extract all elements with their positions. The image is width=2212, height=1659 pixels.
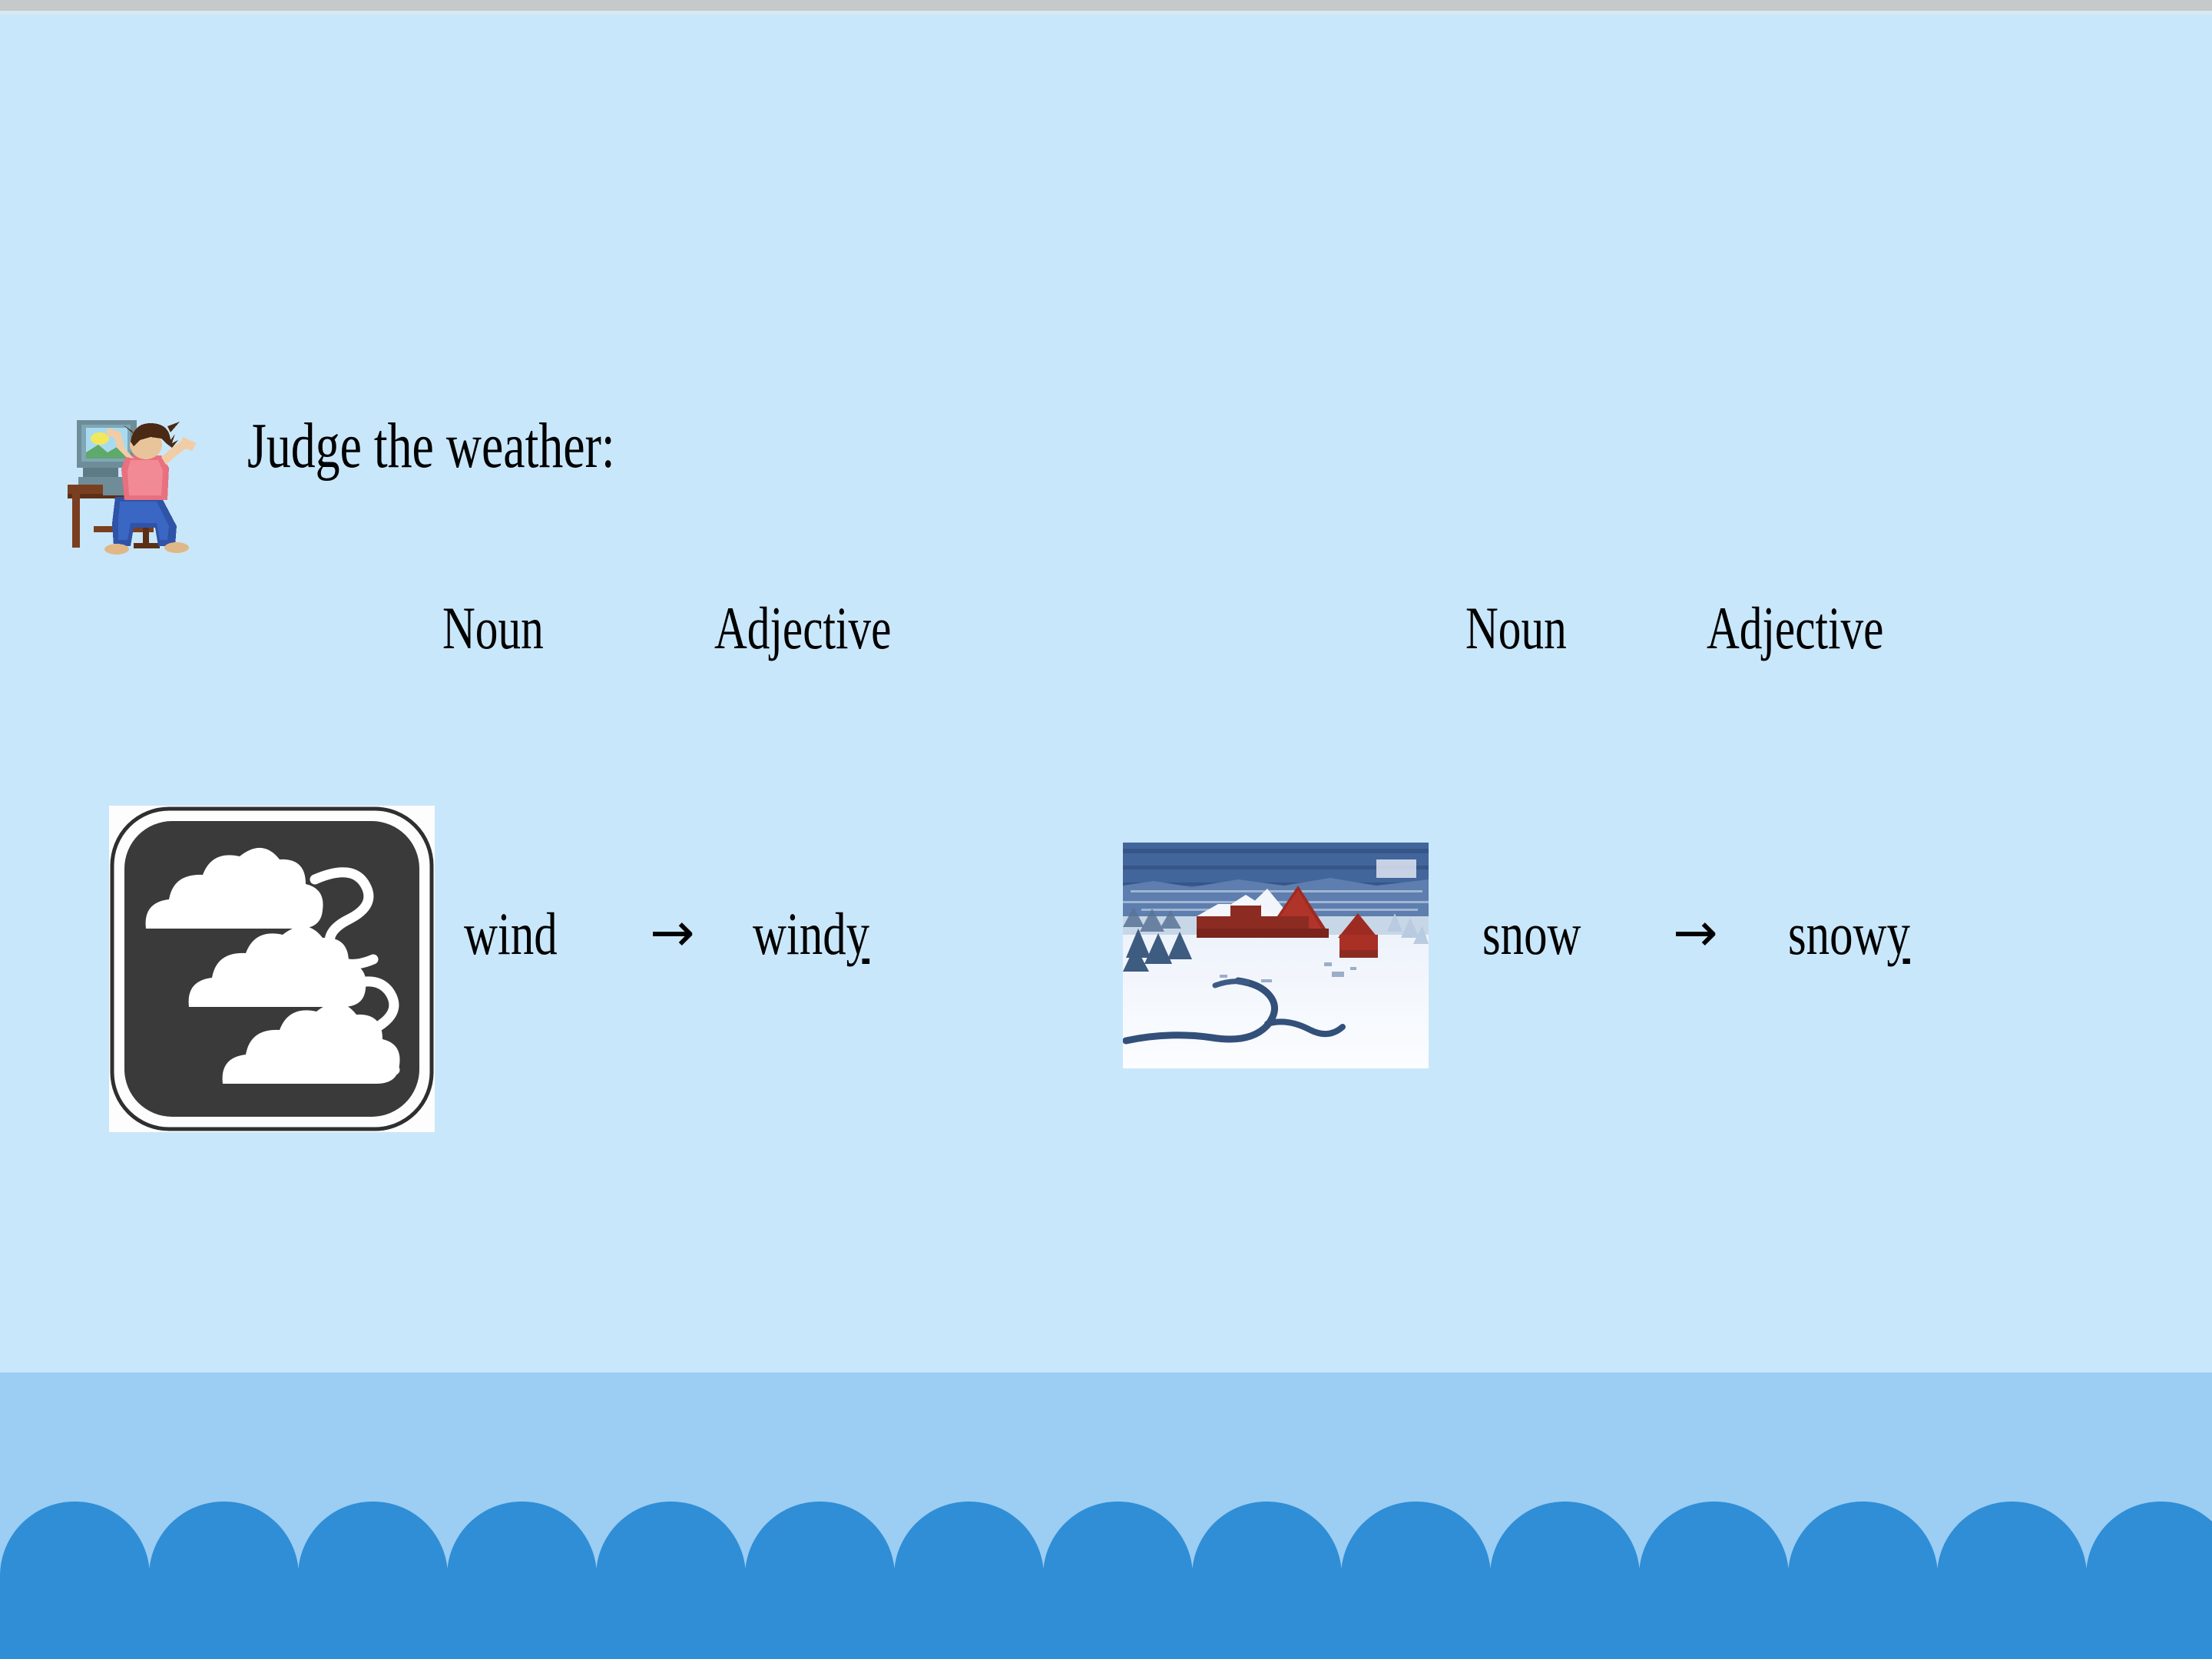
scallop-shape — [1416, 1586, 1565, 1659]
top-grey-strip — [0, 0, 2212, 11]
scallop-shape — [1714, 1586, 1863, 1659]
wind-clouds-icon — [109, 806, 435, 1132]
scallop-row-bottom — [0, 1586, 2212, 1659]
scallop-shape — [969, 1586, 1118, 1659]
left-adjective-stem: wind — [753, 900, 846, 967]
snowy-farm-photo — [1123, 843, 1429, 1068]
left-noun-word: wind — [464, 904, 558, 964]
right-adjective-suffix: y — [1886, 900, 1909, 967]
right-noun-header: Noun — [1465, 598, 1567, 658]
person-at-computer-icon — [60, 411, 221, 557]
slide-content-area: Judge the weather: Noun Adjective Noun A… — [0, 15, 2212, 1373]
scallop-shape — [373, 1586, 522, 1659]
decorative-bottom-band — [0, 1373, 2212, 1659]
right-adjective-stem: snow — [1788, 900, 1886, 967]
scallop-shape — [2161, 1586, 2212, 1659]
scallop-shape — [75, 1586, 224, 1659]
scallop-shape — [1565, 1586, 1714, 1659]
scallop-shape — [820, 1586, 969, 1659]
left-arrow-icon: → — [650, 906, 695, 959]
left-adjective-header: Adjective — [714, 598, 891, 658]
right-adjective-word: snowy — [1788, 904, 1910, 964]
right-adjective-header: Adjective — [1707, 598, 1883, 658]
right-noun-word: snow — [1482, 904, 1581, 964]
left-adjective-word: windy — [753, 904, 869, 964]
slide-canvas: Judge the weather: Noun Adjective Noun A… — [0, 0, 2212, 1659]
scallop-shape — [1118, 1586, 1267, 1659]
right-arrow-icon: → — [1673, 906, 1718, 959]
scallop-shape — [2012, 1586, 2161, 1659]
page-title: Judge the weather: — [247, 414, 615, 478]
scallop-shape — [224, 1586, 373, 1659]
scallop-shape — [1863, 1586, 2012, 1659]
scallop-shape — [522, 1586, 671, 1659]
scallop-shape — [0, 1586, 75, 1659]
left-noun-header: Noun — [442, 598, 544, 658]
scallop-shape — [1267, 1586, 1416, 1659]
left-adjective-suffix: y — [846, 900, 869, 967]
scallop-shape — [671, 1586, 820, 1659]
